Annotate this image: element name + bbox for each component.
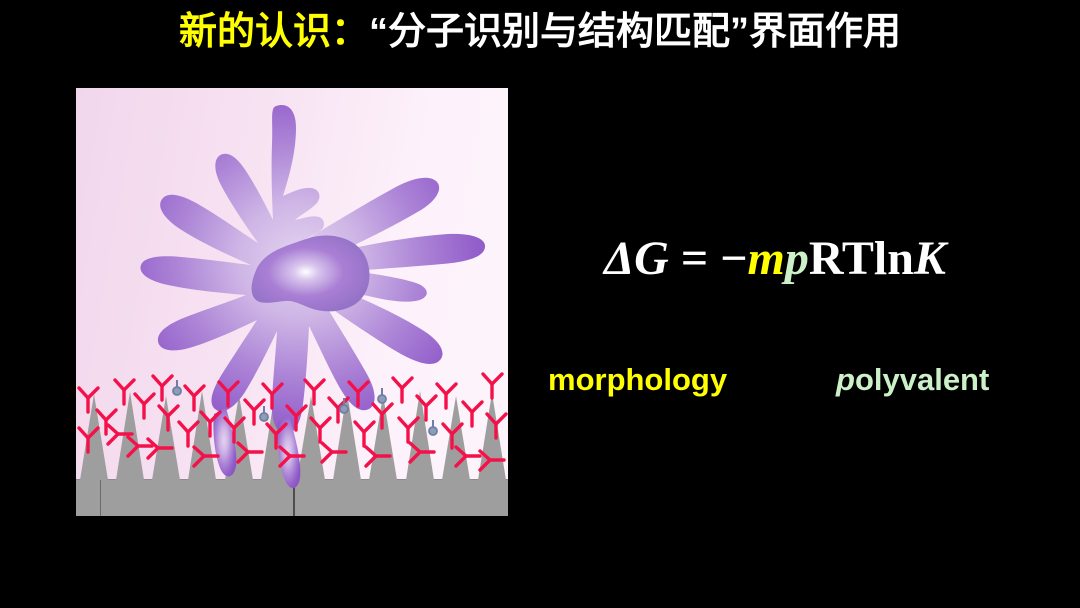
integrin-receptor <box>340 398 348 413</box>
equation-rtln: RTln <box>809 232 914 285</box>
integrin-receptor <box>429 420 437 435</box>
equation-equals: = <box>681 232 708 285</box>
label-morphology: morphology <box>548 362 727 398</box>
label-polyvalent-rest: olyvalent <box>855 362 989 397</box>
equation-k-variable: K <box>914 232 946 285</box>
label-polyvalent-lead: p <box>836 362 855 397</box>
equation-p-variable: p <box>785 232 809 285</box>
page-title-main: “分子识别与结构匹配”界面作用 <box>369 11 901 53</box>
cell-nanospike-illustration <box>76 88 508 516</box>
page-title: 新的认识：“分子识别与结构匹配”界面作用 <box>0 8 1080 56</box>
equation-m-variable: m <box>748 232 785 285</box>
receptor-layer <box>76 88 508 516</box>
page-title-highlight: 新的认识： <box>179 11 369 53</box>
integrin-receptor <box>173 380 181 395</box>
free-energy-equation: ΔG = −mpRTlnK <box>545 231 1005 286</box>
label-polyvalent: polyvalent <box>836 362 989 398</box>
integrin-receptor <box>260 406 268 421</box>
integrin-receptor <box>378 388 386 403</box>
equation-delta-g: ΔG <box>604 232 669 285</box>
equation-minus: − <box>720 232 747 285</box>
